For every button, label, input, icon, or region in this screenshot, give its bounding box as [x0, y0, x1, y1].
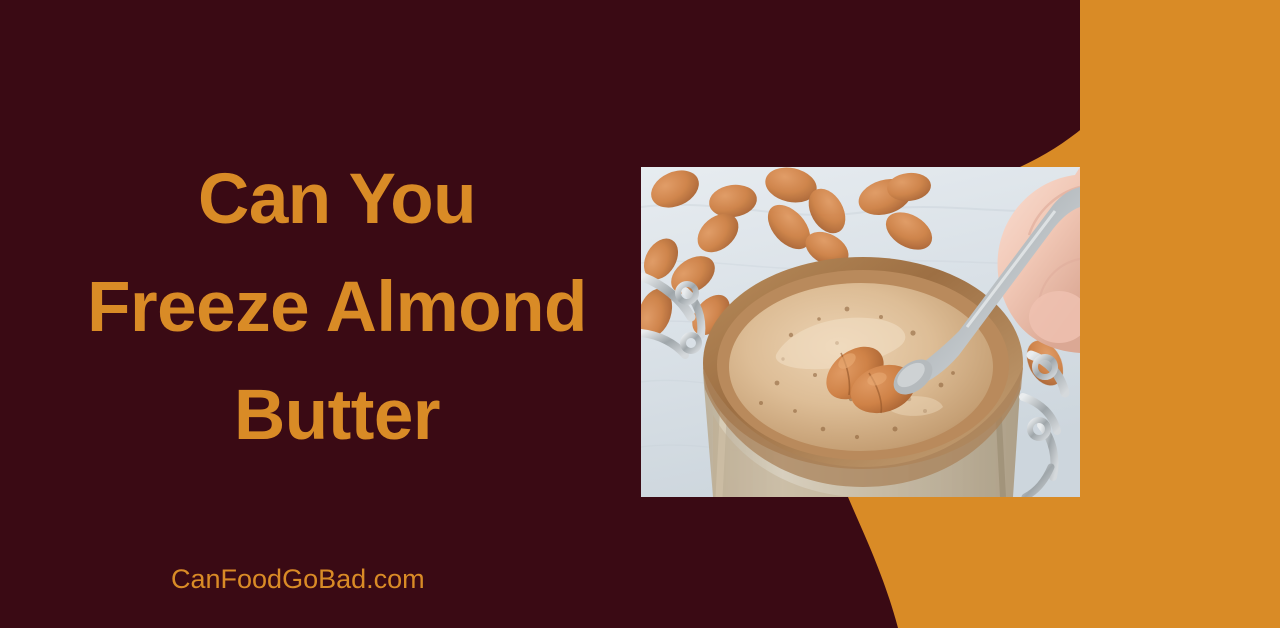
page-title: Can You Freeze Almond Butter	[20, 146, 654, 470]
almond-butter-illustration	[641, 167, 1080, 497]
title-line-3: Butter	[20, 362, 654, 470]
site-name: CanFoodGoBad.com	[171, 563, 425, 595]
title-line-1: Can You	[20, 146, 654, 254]
promo-banner: Can You Freeze Almond Butter CanFoodGoBa…	[0, 0, 1280, 628]
almond-butter-photo	[641, 167, 1080, 497]
bottom-right-curve-shape	[848, 497, 1280, 628]
title-line-2: Freeze Almond	[20, 254, 654, 362]
